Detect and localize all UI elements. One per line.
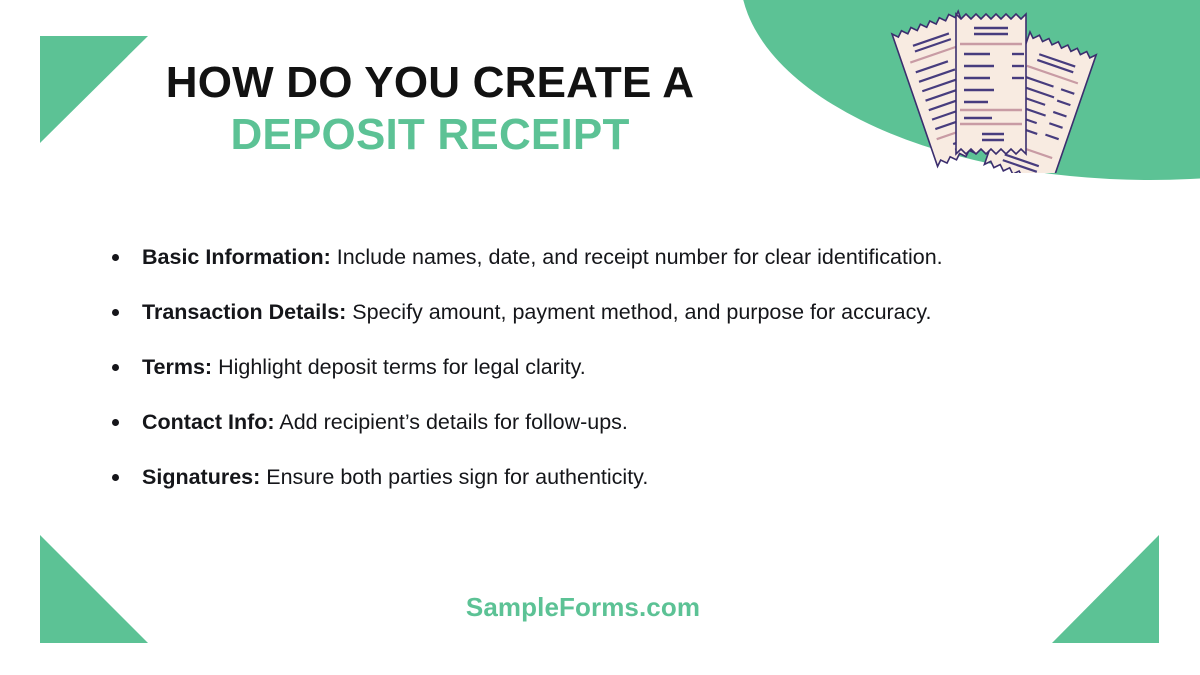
- bullet-dot-icon: [112, 474, 119, 481]
- list-item-text: Highlight deposit terms for legal clarit…: [212, 355, 586, 379]
- list-item-text: Add recipient’s details for follow-ups.: [275, 410, 628, 434]
- title-line-1: HOW DO YOU CREATE A: [120, 58, 740, 107]
- brand-watermark: SampleForms.com: [0, 592, 1166, 623]
- list-item-label: Basic Information:: [142, 245, 331, 269]
- bullet-dot-icon: [112, 309, 119, 316]
- list-item-text: Include names, date, and receipt number …: [331, 245, 943, 269]
- three-receipts-illustration: [880, 8, 1120, 173]
- receipt-middle: [956, 14, 1026, 154]
- list-item: Terms: Highlight deposit terms for legal…: [104, 342, 1089, 393]
- list-item: Transaction Details: Specify amount, pay…: [104, 287, 1089, 338]
- list-item: Contact Info: Add recipient’s details fo…: [104, 397, 1089, 448]
- bullet-dot-icon: [112, 364, 119, 371]
- list-item-text: Ensure both parties sign for authenticit…: [260, 465, 648, 489]
- page-title: HOW DO YOU CREATE A DEPOSIT RECEIPT: [120, 58, 740, 162]
- list-item-label: Contact Info:: [142, 410, 275, 434]
- list-item-label: Terms:: [142, 355, 212, 379]
- bullet-dot-icon: [112, 419, 119, 426]
- title-line-2: DEPOSIT RECEIPT: [120, 107, 740, 162]
- bullet-dot-icon: [112, 254, 119, 261]
- infographic-canvas: HOW DO YOU CREATE A DEPOSIT RECEIPT Basi…: [0, 0, 1200, 675]
- list-item-label: Signatures:: [142, 465, 260, 489]
- list-item: Signatures: Ensure both parties sign for…: [104, 452, 1089, 503]
- list-item-text: Specify amount, payment method, and purp…: [346, 300, 931, 324]
- tips-list: Basic Information: Include names, date, …: [104, 232, 1089, 507]
- list-item: Basic Information: Include names, date, …: [104, 232, 1089, 283]
- list-item-label: Transaction Details:: [142, 300, 346, 324]
- green-triangle-bottom-left: [40, 535, 148, 643]
- green-triangle-bottom-right: [1052, 535, 1159, 643]
